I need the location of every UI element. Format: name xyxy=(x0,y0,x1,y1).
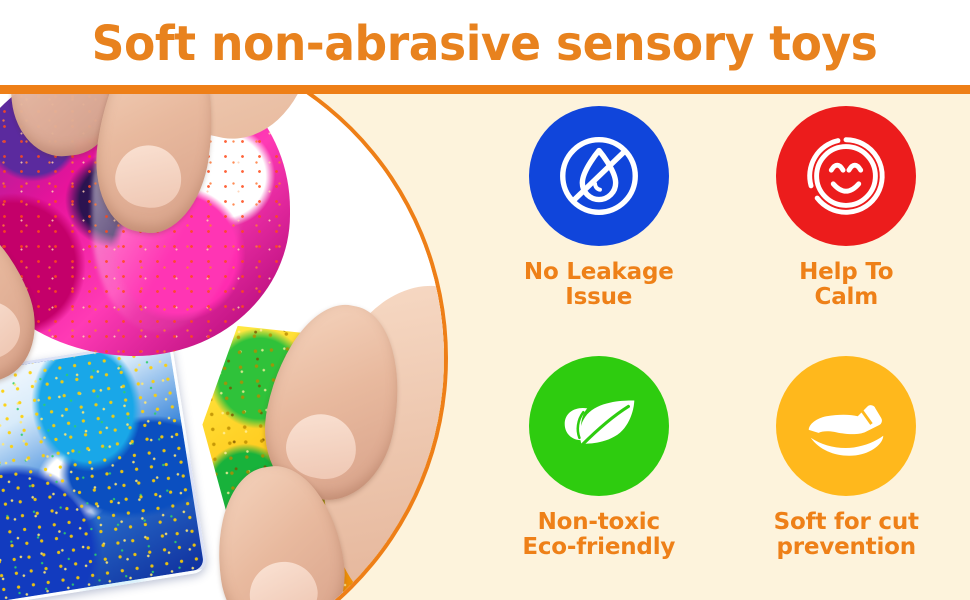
header-divider xyxy=(0,85,970,94)
feature-label-help-to-calm: Help To Calm xyxy=(799,260,893,310)
infographic-canvas: Soft non-abrasive sensory toys xyxy=(0,0,970,600)
feature-help-to-calm: Help To Calm xyxy=(723,100,970,350)
blue-gold-glitter-pad-photo xyxy=(0,338,208,600)
feature-label-non-toxic: Non-toxic Eco-friendly xyxy=(522,510,675,560)
page-title: Soft non-abrasive sensory toys xyxy=(92,20,878,68)
feature-grid: No Leakage Issue Help To Calm xyxy=(475,100,970,600)
help-to-calm-badge xyxy=(776,106,916,246)
gold-glitter-texture xyxy=(0,342,205,600)
fingernail xyxy=(112,141,186,212)
open-hand-icon xyxy=(797,377,895,475)
feature-no-leakage: No Leakage Issue xyxy=(475,100,723,350)
smiley-face-icon xyxy=(797,127,895,225)
product-photo-panel xyxy=(0,94,470,600)
no-leakage-badge xyxy=(529,106,669,246)
feature-label-no-leakage: No Leakage Issue xyxy=(524,260,674,310)
photo-circle-frame xyxy=(0,94,444,600)
feature-label-cut-prevention: Soft for cut prevention xyxy=(774,510,919,560)
feature-soft-for-cut-prevention: Soft for cut prevention xyxy=(723,350,970,600)
leaf-icon xyxy=(550,377,648,475)
cut-prevention-badge xyxy=(776,356,916,496)
non-toxic-badge xyxy=(529,356,669,496)
fingernail xyxy=(0,292,28,370)
fingernail xyxy=(246,557,322,600)
header-banner: Soft non-abrasive sensory toys xyxy=(0,0,970,85)
feature-non-toxic: Non-toxic Eco-friendly xyxy=(475,350,723,600)
photo-collage xyxy=(0,94,444,600)
no-water-leak-icon xyxy=(550,127,648,225)
